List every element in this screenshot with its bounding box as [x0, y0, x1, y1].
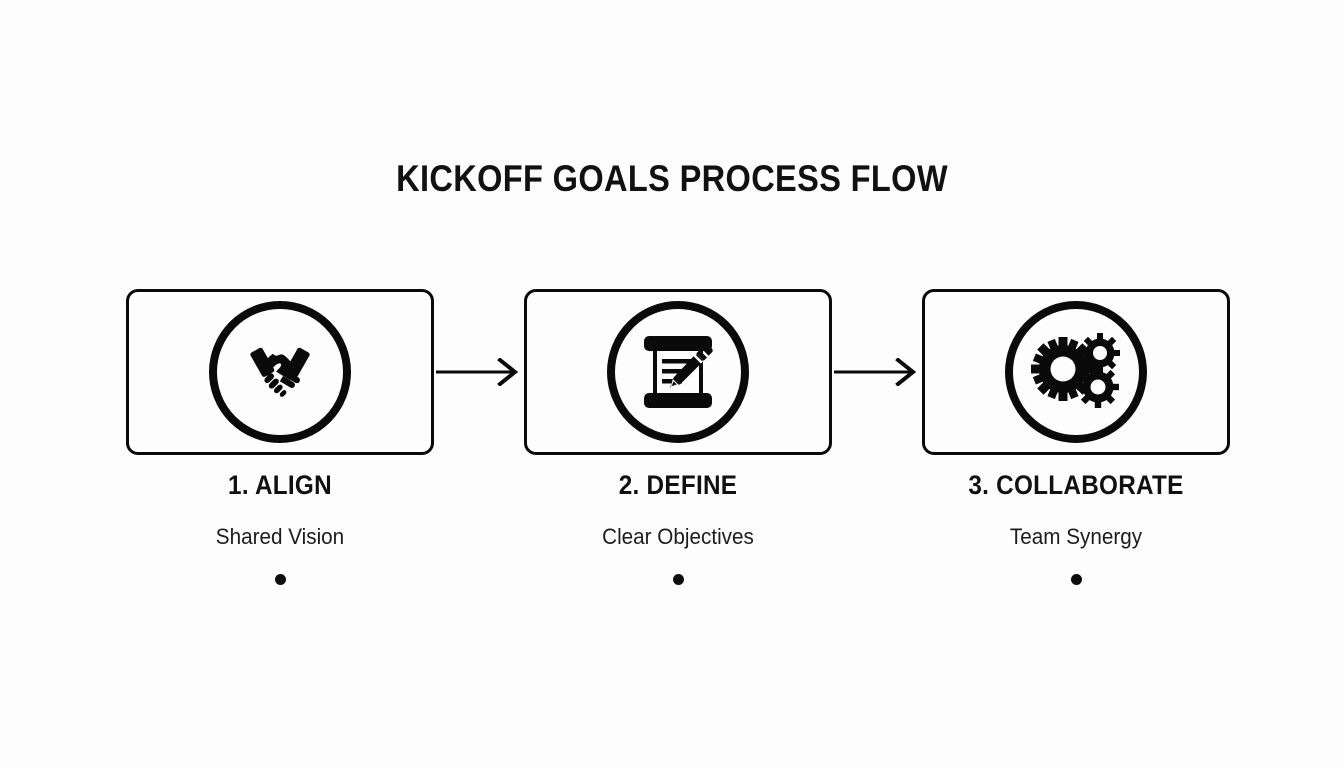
caption-define: 2. DEFINE Clear Objectives	[524, 470, 832, 610]
step-card-define[interactable]	[524, 289, 832, 455]
step-card-collaborate[interactable]	[922, 289, 1230, 455]
step-subtitle-align: Shared Vision	[135, 525, 425, 549]
connector-arrow-2	[832, 357, 922, 387]
page-title: KICKOFF GOALS PROCESS FLOW	[81, 158, 1264, 200]
caption-align: 1. ALIGN Shared Vision	[126, 470, 434, 610]
step-subtitle-collaborate: Team Synergy	[931, 525, 1221, 549]
step-title-define: 2. DEFINE	[539, 470, 816, 500]
bullet-dot-icon	[673, 574, 684, 585]
handshake-icon	[237, 341, 323, 403]
step-subtitle-define: Clear Objectives	[533, 525, 823, 549]
step-title-collaborate: 3. COLLABORATE	[937, 470, 1214, 500]
caption-spacer-2	[832, 470, 922, 610]
process-flow-row	[126, 289, 1227, 455]
bullet-dot-icon	[275, 574, 286, 585]
arrow-right-icon	[834, 358, 920, 386]
step-title-align: 1. ALIGN	[141, 470, 418, 500]
process-flow-slide: KICKOFF GOALS PROCESS FLOW	[0, 0, 1344, 768]
arrow-right-icon	[436, 358, 522, 386]
caption-collaborate: 3. COLLABORATE Team Synergy	[922, 470, 1230, 610]
connector-arrow-1	[434, 357, 524, 387]
icon-circle-collaborate	[1005, 301, 1147, 443]
caption-spacer-1	[434, 470, 524, 610]
gears-icon	[1030, 333, 1122, 411]
icon-circle-align	[209, 301, 351, 443]
document-pencil-icon	[636, 332, 720, 412]
step-card-align[interactable]	[126, 289, 434, 455]
icon-circle-define	[607, 301, 749, 443]
bullet-dot-icon	[1071, 574, 1082, 585]
step-captions-row: 1. ALIGN Shared Vision 2. DEFINE Clear O…	[126, 470, 1227, 610]
